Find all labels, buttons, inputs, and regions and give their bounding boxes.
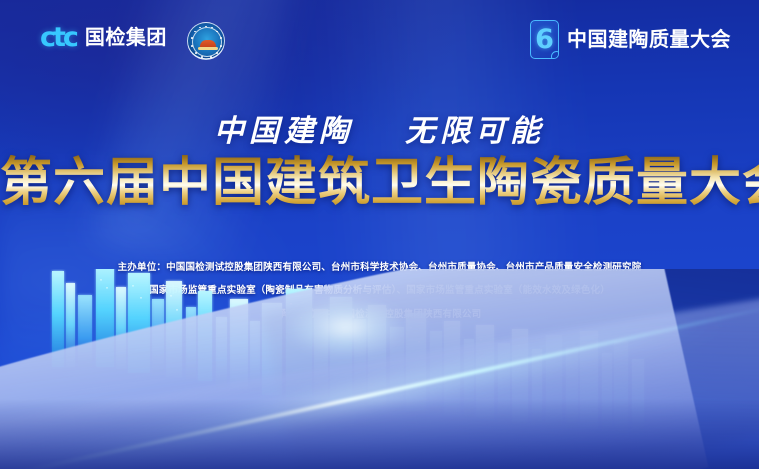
poster-header: ctc 国检集团 6 中国建陶质量大会 (0, 0, 759, 78)
edition-number-icon: 6 (530, 20, 559, 59)
edition-badge-nub (551, 51, 559, 59)
poster-tagline: 中国建陶 无限可能 (0, 106, 759, 150)
tagline-part-2: 无限可能 (405, 115, 545, 148)
conference-poster: ctc 国检集团 6 中国建陶质量大会 (0, 0, 759, 469)
conference-brand-name: 中国建陶质量大会 (567, 30, 731, 50)
emblem-star-dots (188, 23, 224, 59)
tagline-part-1: 中国建陶 (214, 115, 354, 148)
logo-ctc-chinese-name: 国检集团 (85, 28, 167, 48)
logo-ctc-guojian: ctc 国检集团 (40, 24, 167, 51)
cityscape-artwork (0, 269, 759, 469)
page-title: 第六届中国建筑卫生陶瓷质量大会 (0, 155, 759, 213)
ctc-wordmark-icon: ctc (40, 24, 76, 51)
bottom-vignette (0, 399, 759, 469)
logo-conference-brand: 6 中国建陶质量大会 (530, 20, 731, 59)
institution-emblem-icon (187, 22, 225, 60)
light-streak-hotspot (286, 297, 406, 357)
edition-number-text: 6 (535, 26, 554, 53)
